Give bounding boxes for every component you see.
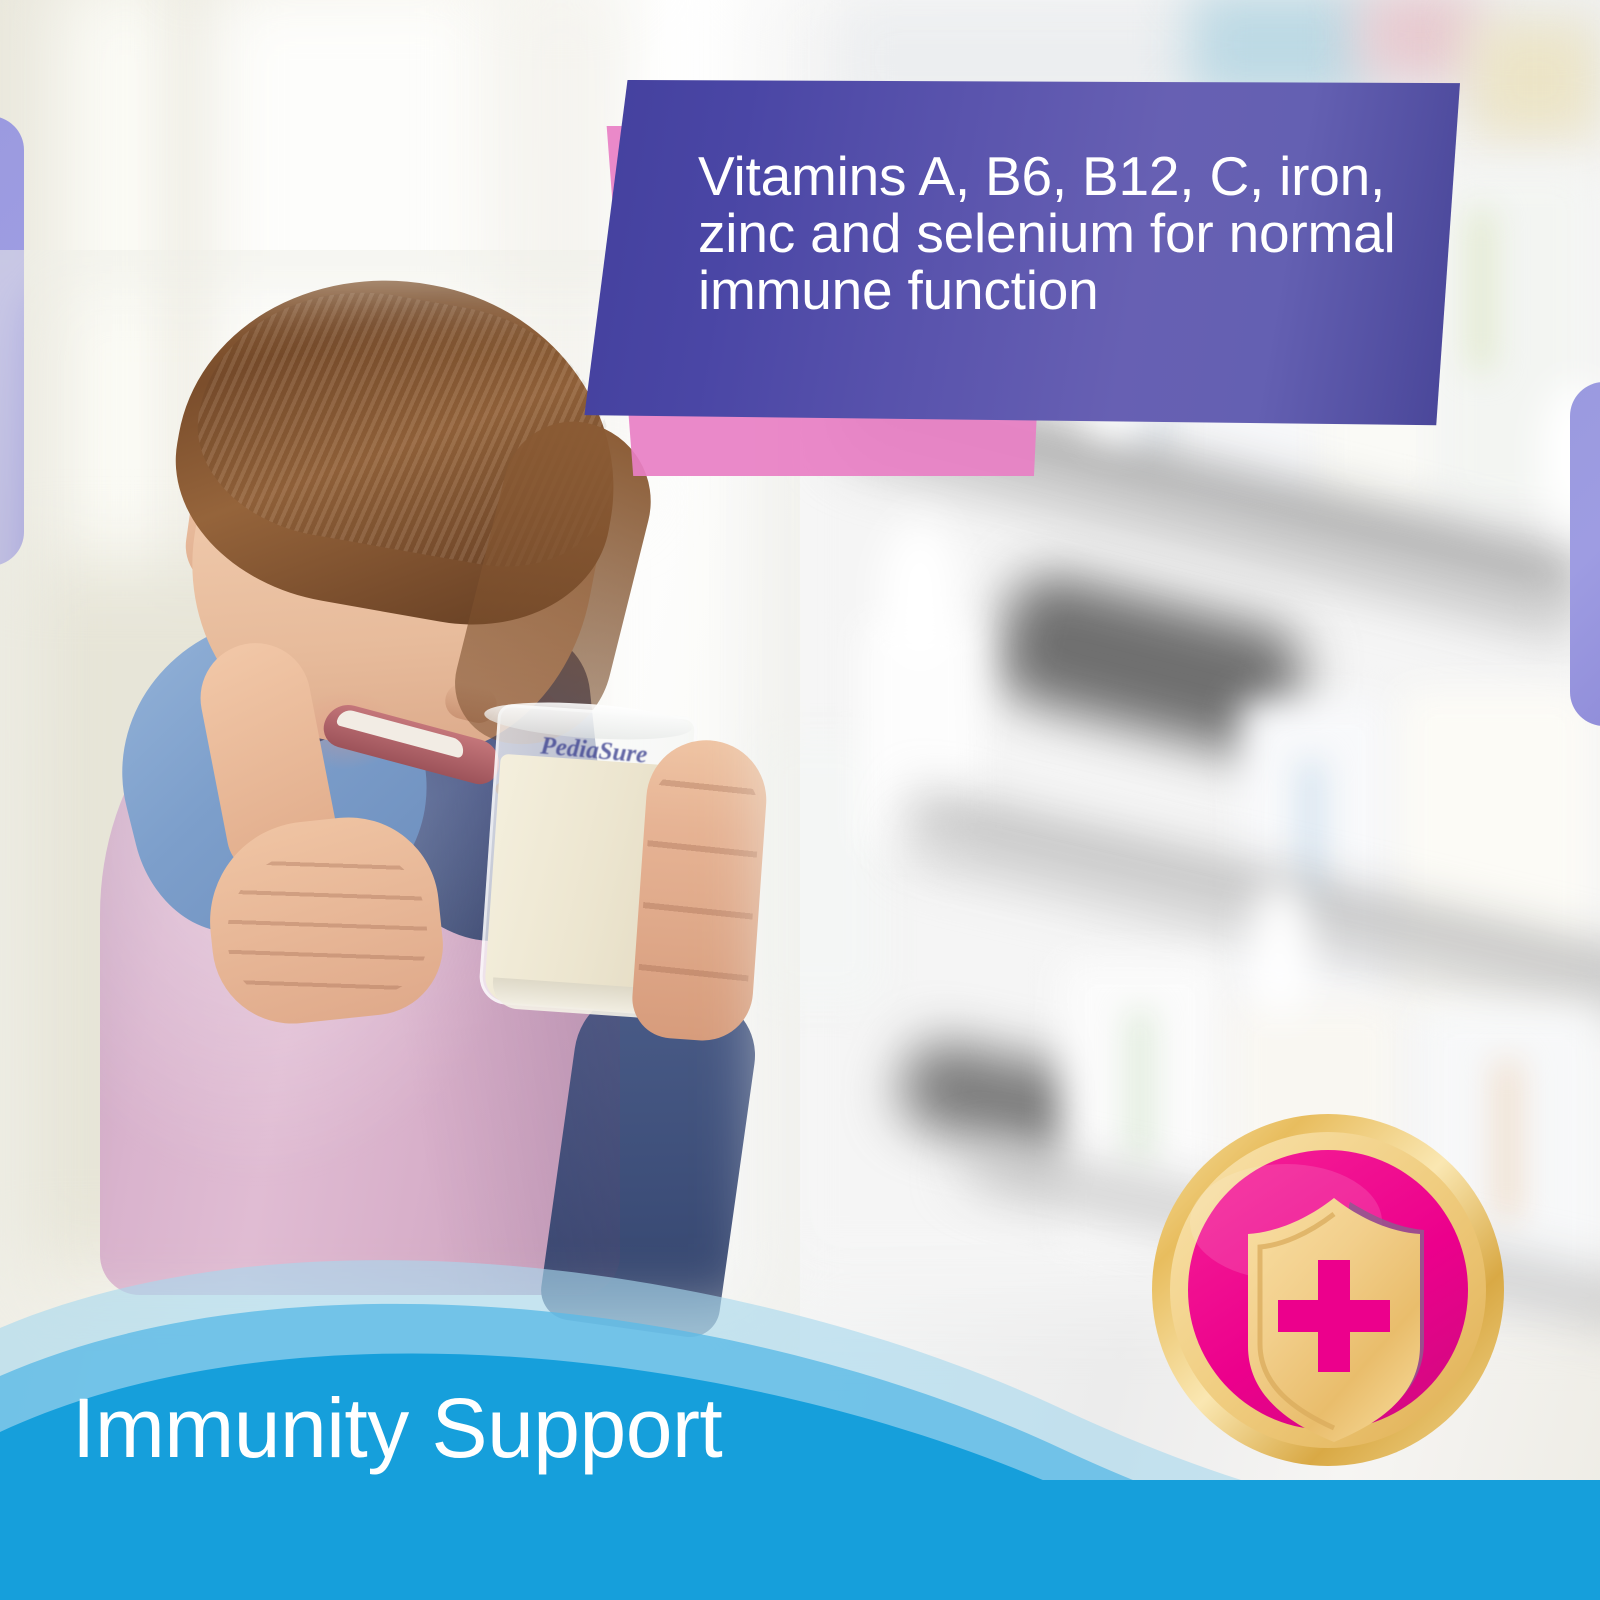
wave-solid-fill <box>0 1480 1600 1600</box>
headline-banner: Vitamins A, B6, B12, C, iron, zinc and s… <box>580 80 1460 460</box>
finger-separations <box>635 756 764 1033</box>
right-purple-tab <box>1570 382 1600 726</box>
page-title: Immunity Support <box>72 1386 722 1470</box>
left-purple-tab <box>0 116 24 566</box>
banner-headline-text: Vitamins A, B6, B12, C, iron, zinc and s… <box>698 148 1438 320</box>
immunity-shield-badge <box>1148 1110 1508 1470</box>
advert-canvas: PediaSure Vitamins A, B6, B12, C, iron, … <box>0 0 1600 1600</box>
